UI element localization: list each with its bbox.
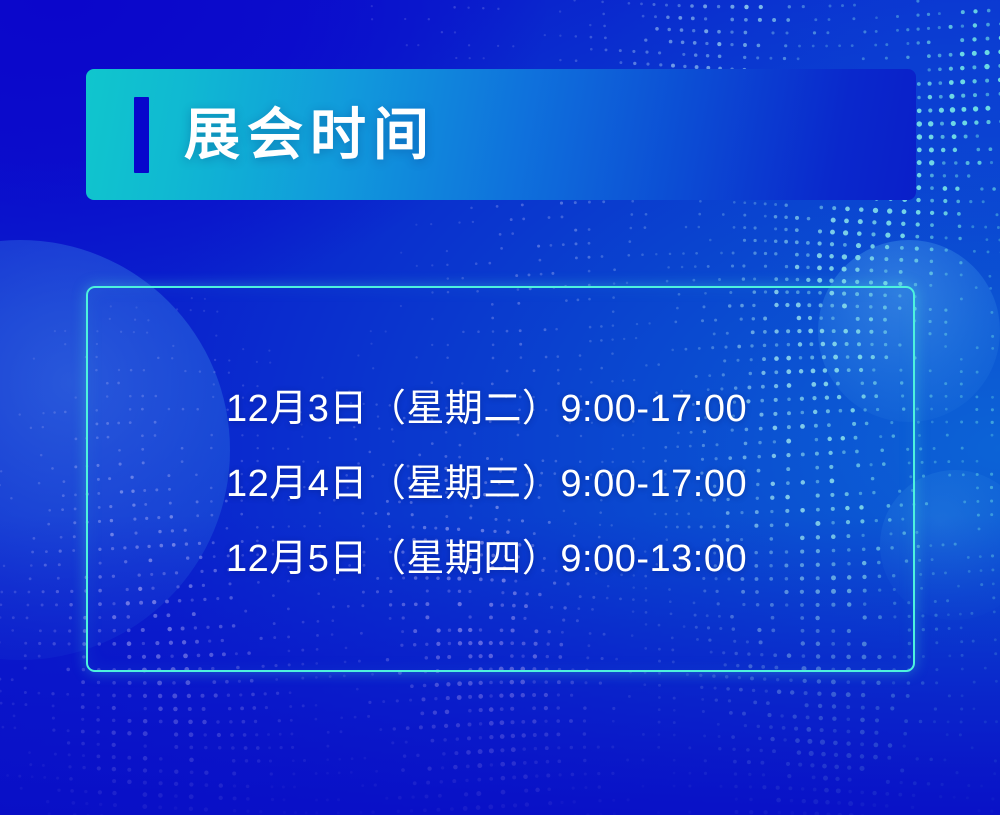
page-title: 展会时间 [184,107,436,163]
accent-bar-icon [134,97,149,173]
exhibition-time-poster: 展会时间 12月3日（星期二）9:00-17:00 12月4日（星期三）9:00… [0,0,1000,815]
title-banner: 展会时间 [86,69,916,200]
schedule-line-2: 12月4日（星期三）9:00-17:00 [226,447,826,522]
schedule-list: 12月3日（星期二）9:00-17:00 12月4日（星期三）9:00-17:0… [226,372,826,597]
schedule-line-1: 12月3日（星期二）9:00-17:00 [226,372,826,447]
schedule-line-3: 12月5日（星期四）9:00-13:00 [226,522,826,597]
